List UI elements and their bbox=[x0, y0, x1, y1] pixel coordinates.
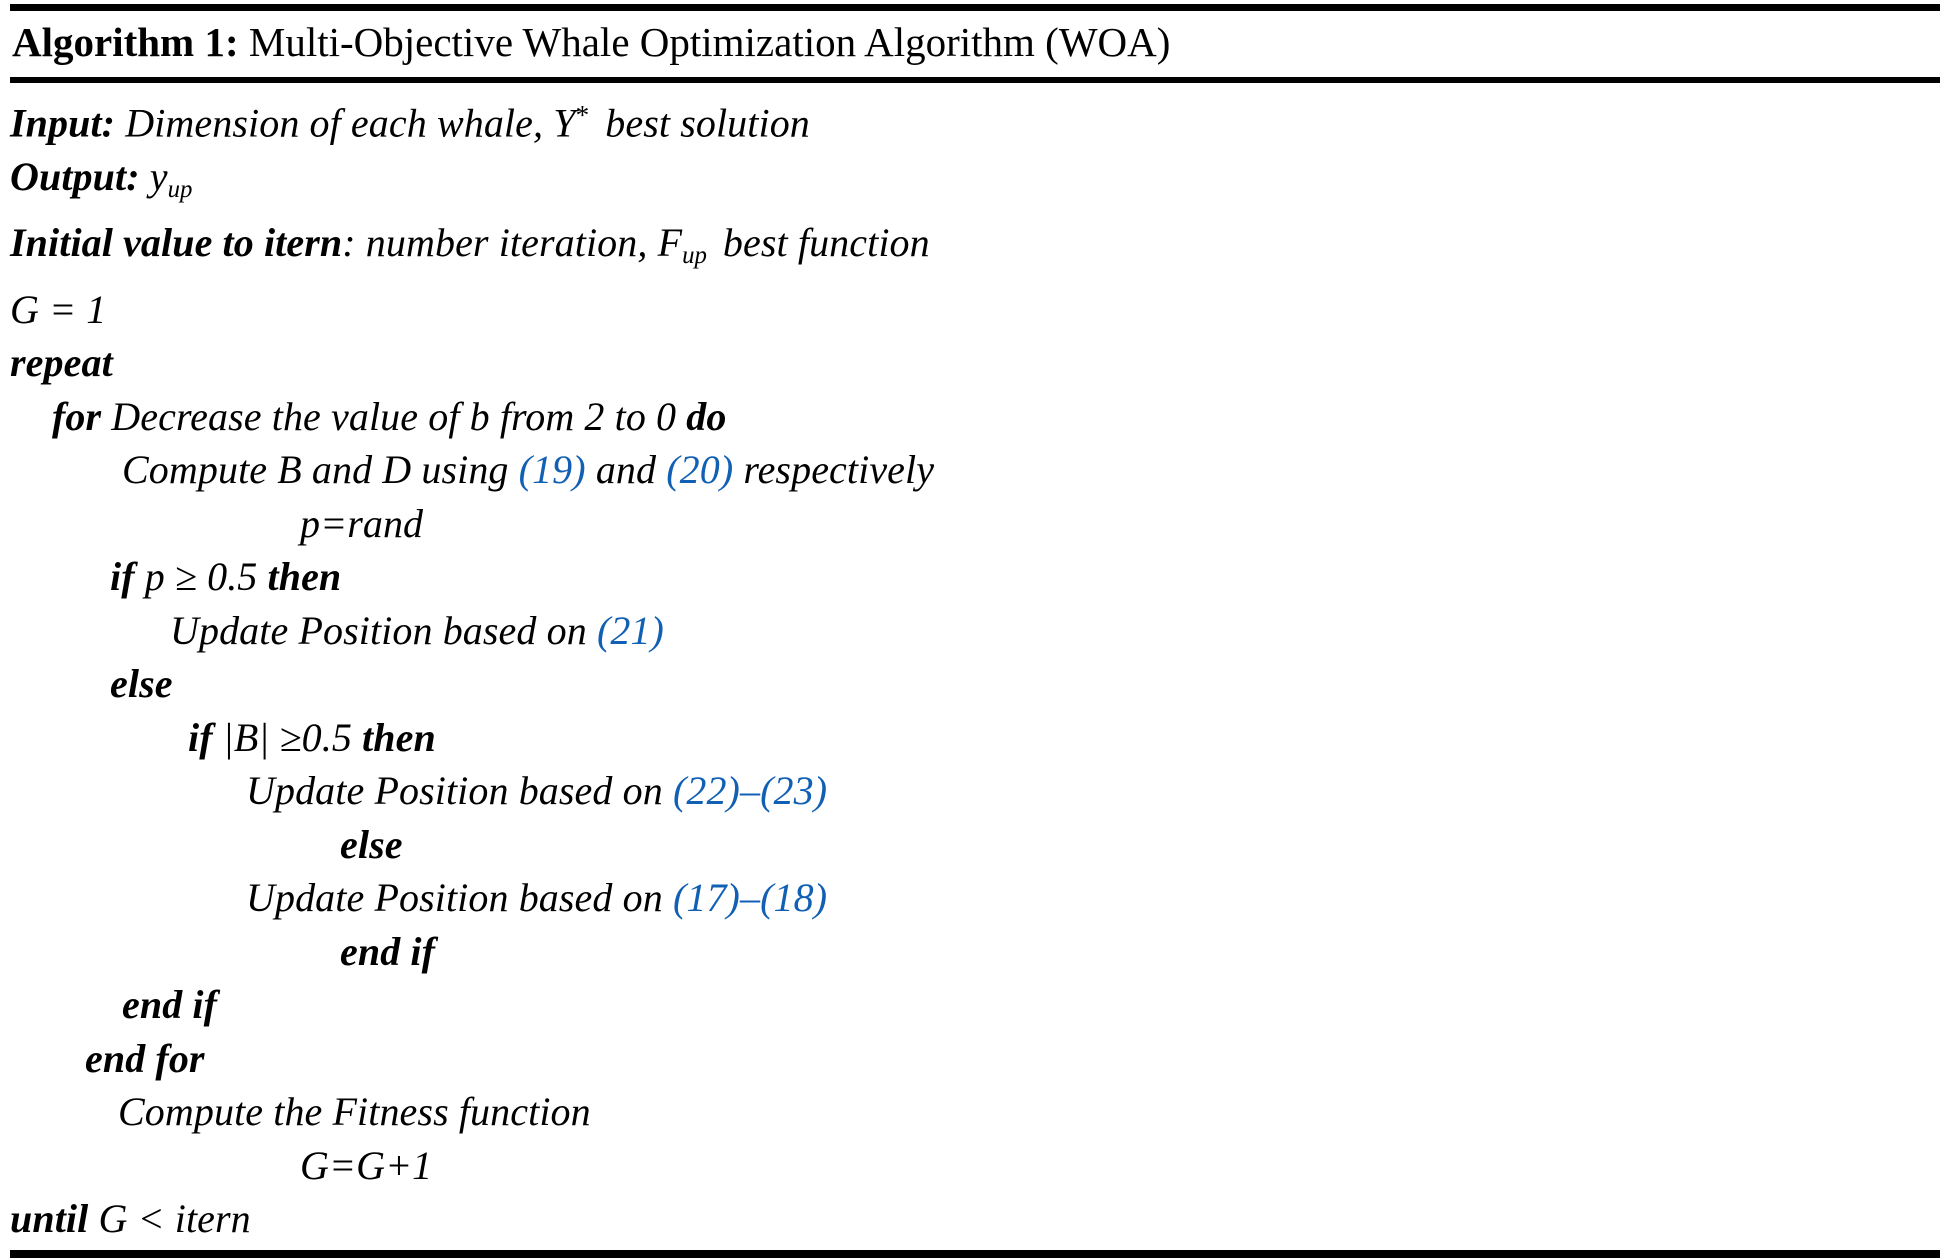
if-condition-inner: |B| ≥0.5 bbox=[223, 715, 352, 760]
line-if-p: if p ≥ 0.5 then bbox=[10, 550, 1940, 604]
until-keyword: until bbox=[10, 1196, 88, 1241]
line-update-22-23: Update Position based on (22)–(23) bbox=[10, 764, 1940, 818]
compute-fitness-text: Compute the Fitness function bbox=[118, 1089, 591, 1134]
equation-ref-19: (19) bbox=[519, 447, 586, 492]
algorithm-header: Algorithm 1: Multi-Objective Whale Optim… bbox=[10, 11, 1940, 75]
line-end-if-outer: end if bbox=[10, 978, 1940, 1032]
line-end-for: end for bbox=[10, 1032, 1940, 1086]
else-keyword-inner: else bbox=[340, 822, 403, 867]
line-else-outer: else bbox=[10, 657, 1940, 711]
if-condition-outer: p ≥ 0.5 bbox=[145, 554, 258, 599]
compute-bd-text: Compute B and D using bbox=[122, 447, 509, 492]
line-g-increment: G=G+1 bbox=[10, 1139, 1940, 1193]
end-for-keyword: end for bbox=[85, 1036, 205, 1081]
repeat-keyword: repeat bbox=[10, 340, 113, 385]
for-keyword: for bbox=[52, 394, 101, 439]
line-compute-bd: Compute B and D using (19) and (20) resp… bbox=[10, 443, 1940, 497]
input-label: Input: bbox=[10, 101, 115, 146]
line-initial-value: Initial value to itern: number iteration… bbox=[10, 216, 1940, 282]
initial-colon: : bbox=[342, 220, 355, 265]
algorithm-block: Algorithm 1: Multi-Objective Whale Optim… bbox=[0, 4, 1954, 1208]
algorithm-title: Multi-Objective Whale Optimization Algor… bbox=[249, 19, 1171, 65]
line-end-if-inner: end if bbox=[10, 925, 1940, 979]
line-if-b: if |B| ≥0.5 then bbox=[10, 711, 1940, 765]
compute-bd-suffix: respectively bbox=[743, 447, 934, 492]
initial-label: Initial value to itern bbox=[10, 220, 342, 265]
line-compute-fitness: Compute the Fitness function bbox=[10, 1085, 1940, 1139]
equation-ref-22-23: (22)–(23) bbox=[673, 768, 827, 813]
line-repeat: repeat bbox=[10, 336, 1940, 390]
g-init-statement: G = 1 bbox=[10, 287, 106, 332]
initial-variable-subscript: up bbox=[682, 242, 707, 269]
input-text: Dimension of each whale, bbox=[125, 101, 543, 146]
input-variable: Y bbox=[553, 101, 575, 146]
equation-ref-20: (20) bbox=[666, 447, 733, 492]
compute-bd-conjunction: and bbox=[596, 447, 656, 492]
initial-text: number iteration, bbox=[366, 220, 648, 265]
line-update-21: Update Position based on (21) bbox=[10, 604, 1940, 658]
algorithm-label: Algorithm 1: bbox=[12, 19, 239, 65]
end-if-keyword-outer: end if bbox=[122, 982, 217, 1027]
do-keyword: do bbox=[686, 394, 726, 439]
input-variable-superscript: * bbox=[576, 100, 590, 130]
line-for: for Decrease the value of b from 2 to 0 … bbox=[10, 390, 1940, 444]
for-condition: Decrease the value of b from 2 to 0 bbox=[111, 394, 676, 439]
if-keyword-inner: if bbox=[188, 715, 213, 760]
until-condition: G < itern bbox=[98, 1196, 250, 1241]
then-keyword-inner: then bbox=[362, 715, 436, 760]
output-variable-subscript: up bbox=[168, 176, 193, 203]
end-if-keyword-inner: end if bbox=[340, 929, 435, 974]
initial-tail: best function bbox=[723, 220, 930, 265]
update-2223-text: Update Position based on bbox=[246, 768, 663, 813]
p-rand-assignment: p=rand bbox=[300, 501, 423, 546]
bottom-rule bbox=[10, 1250, 1940, 1258]
line-else-inner: else bbox=[10, 818, 1940, 872]
output-variable: y bbox=[150, 154, 168, 199]
initial-variable: F bbox=[658, 220, 683, 265]
then-keyword-outer: then bbox=[268, 554, 342, 599]
line-until: until G < itern bbox=[10, 1192, 1940, 1246]
line-g-init: G = 1 bbox=[10, 283, 1940, 337]
line-output: Output: yup bbox=[10, 150, 1940, 216]
update-1718-text: Update Position based on bbox=[246, 875, 663, 920]
update-21-text: Update Position based on bbox=[170, 608, 587, 653]
line-input: Input: Dimension of each whale, Y*best s… bbox=[10, 89, 1940, 150]
line-p-rand: p=rand bbox=[10, 497, 1940, 551]
if-keyword-outer: if bbox=[110, 554, 135, 599]
else-keyword-outer: else bbox=[110, 661, 173, 706]
output-label: Output: bbox=[10, 154, 140, 199]
g-increment-statement: G=G+1 bbox=[300, 1143, 432, 1188]
equation-ref-21: (21) bbox=[597, 608, 664, 653]
equation-ref-17-18: (17)–(18) bbox=[673, 875, 827, 920]
input-tail: best solution bbox=[605, 101, 810, 146]
line-update-17-18: Update Position based on (17)–(18) bbox=[10, 871, 1940, 925]
algorithm-body: Input: Dimension of each whale, Y*best s… bbox=[10, 83, 1940, 1246]
top-rule bbox=[10, 4, 1940, 11]
